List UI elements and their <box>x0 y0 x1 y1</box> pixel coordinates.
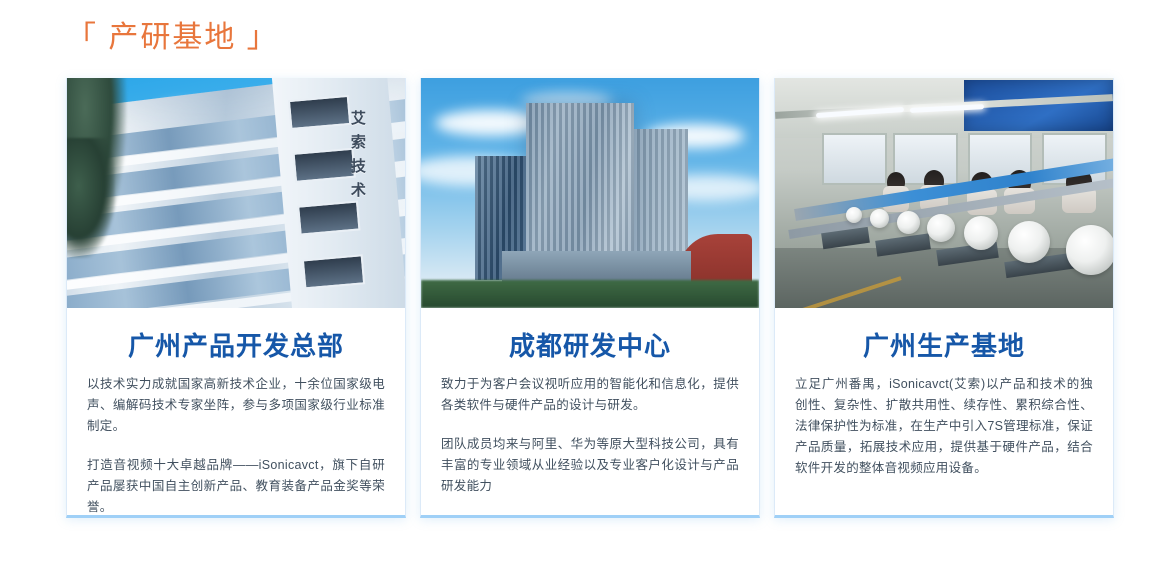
facility-card-list: 艾索技术 广州产品开发总部 以技术实力成就国家高新技术企业，十余位国家级电声、编… <box>66 78 1114 520</box>
office-building-photo: 艾索技术 <box>67 78 405 308</box>
card-body: 广州生产基地 立足广州番禺，iSonicavct(艾索)以产品和技术的独创性、复… <box>775 308 1113 515</box>
glass-skyscraper-photo <box>421 78 759 308</box>
building-corner-tower <box>272 78 405 308</box>
product-part <box>870 209 889 228</box>
product-part <box>897 211 920 234</box>
card-body: 成都研发中心 致力于为客户会议视听应用的智能化和信息化，提供各类软件与硬件产品的… <box>421 308 759 515</box>
card-paragraph: 以技术实力成就国家高新技术企业，十余位国家级电声、编解码技术专家坐阵，参与多项国… <box>87 374 385 437</box>
card-body: 广州产品开发总部 以技术实力成就国家高新技术企业，十余位国家级电声、编解码技术专… <box>67 308 405 518</box>
card-heading: 广州生产基地 <box>795 330 1093 362</box>
card-paragraph: 立足广州番禺，iSonicavct(艾索)以产品和技术的独创性、复杂性、扩散共用… <box>795 374 1093 479</box>
card-paragraph: 团队成员均来与阿里、华为等原大型科技公司，具有丰富的专业领域从业经验以及专业客户… <box>441 434 739 497</box>
product-part <box>1008 221 1050 263</box>
worker-figure <box>887 172 905 192</box>
facility-card-chengdu-rd[interactable]: 成都研发中心 致力于为客户会议视听应用的智能化和信息化，提供各类软件与硬件产品的… <box>420 78 760 518</box>
tree-shape <box>67 138 115 258</box>
card-paragraph: 打造音视频十大卓越品牌——iSonicavct，旗下自研产品屡获中国自主创新产品… <box>87 455 385 518</box>
window-shape <box>822 133 887 185</box>
card-heading: 广州产品开发总部 <box>87 330 385 362</box>
page-title: 「 产研基地 」 <box>66 18 279 58</box>
product-part <box>846 207 862 223</box>
card-heading: 成都研发中心 <box>441 330 739 362</box>
building-sign-text: 艾索技术 <box>347 110 368 206</box>
facility-card-guangzhou-hq[interactable]: 艾索技术 广州产品开发总部 以技术实力成就国家高新技术企业，十余位国家级电声、编… <box>66 78 406 518</box>
factory-production-line-photo <box>775 78 1113 308</box>
product-part <box>927 214 955 242</box>
card-paragraph: 致力于为客户会议视听应用的智能化和信息化，提供各类软件与硬件产品的设计与研发。 <box>441 374 739 416</box>
product-part <box>1066 225 1113 275</box>
facility-card-guangzhou-factory[interactable]: 广州生产基地 立足广州番禺，iSonicavct(艾索)以产品和技术的独创性、复… <box>774 78 1114 518</box>
treeline-shape <box>421 280 759 308</box>
